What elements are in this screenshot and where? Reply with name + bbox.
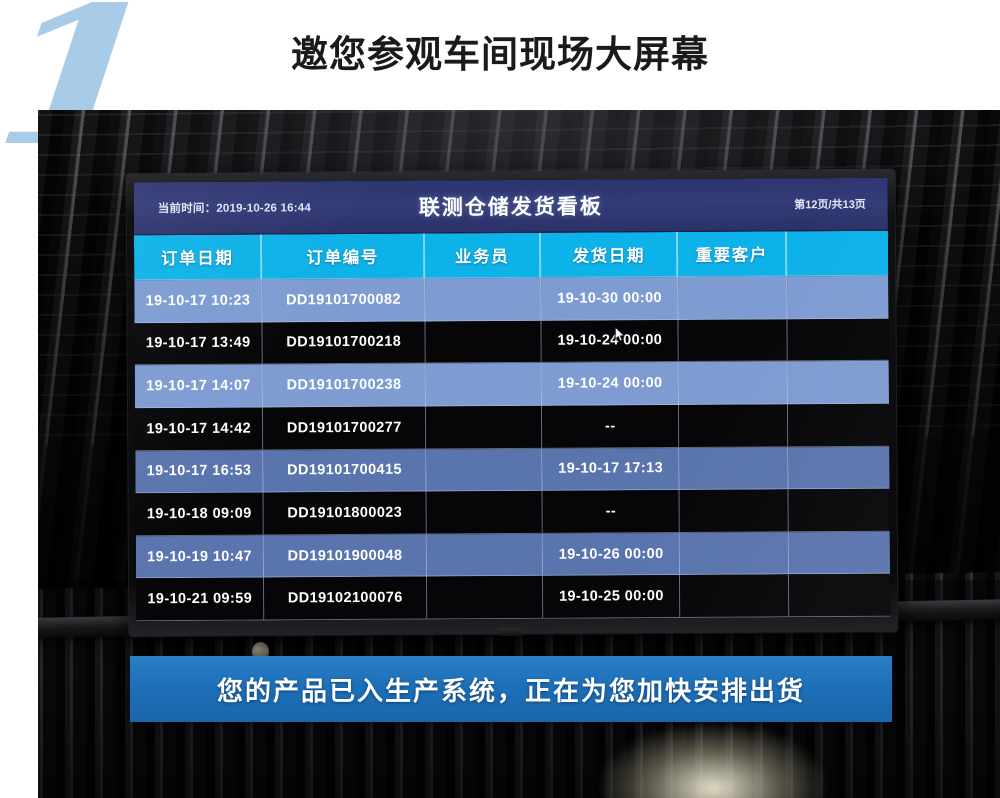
cell-extra [788,361,889,404]
pagination-indicator: 第12页/共13页 [794,196,866,212]
table-row: 19-10-17 14:07 DD19101700238 19-10-24 00… [135,361,889,408]
tv-screen: 当前时间：2019-10-26 16:44 联测仓储发货看板 第12页/共13页… [134,178,891,622]
promo-banner-text: 您的产品已入生产系统，正在为您加快安排出货 [217,671,805,708]
cell-order-number: DD19101700238 [263,364,426,408]
cell-order-number: DD19101700082 [262,279,425,323]
cell-order-number: DD19101700277 [263,406,426,450]
cell-extra [789,531,890,574]
cell-key-customer [680,575,789,618]
cell-ship-date: 19-10-24 00:00 [542,320,679,363]
cell-salesperson [427,534,543,577]
table-header-row: 订单日期 订单编号 业务员 发货日期 重要客户 [134,231,888,281]
cell-order-date: 19-10-21 09:59 [136,578,264,621]
cell-order-number: DD19101700218 [263,321,426,365]
cell-order-number: DD19101800023 [264,492,427,536]
dashboard-header: 当前时间：2019-10-26 16:44 联测仓储发货看板 第12页/共13页 [134,178,888,236]
shipment-table: 订单日期 订单编号 业务员 发货日期 重要客户 19-10-17 10:23 D… [134,231,890,622]
cell-salesperson [426,320,542,363]
column-header-order-date: 订单日期 [134,235,262,281]
table-row: 19-10-18 09:09 DD19101800023 -- [136,489,890,536]
cell-salesperson [426,448,542,491]
table-row: 19-10-17 16:53 DD19101700415 19-10-17 17… [135,446,889,493]
column-header-ship-date: 发货日期 [541,232,678,278]
cell-salesperson [427,491,543,534]
cell-order-date: 19-10-17 14:42 [135,407,263,450]
cell-ship-date: 19-10-24 00:00 [542,362,679,405]
cell-ship-date: 19-10-26 00:00 [543,533,680,576]
cell-ship-date: -- [543,490,680,533]
column-header-key-customer: 重要客户 [678,231,787,277]
promo-banner: 您的产品已入生产系统，正在为您加快安排出货 [130,656,892,722]
table-row: 19-10-17 10:23 DD19101700082 19-10-30 00… [134,276,888,323]
cell-ship-date: -- [542,405,679,448]
cell-extra [788,489,889,532]
cell-ship-date: 19-10-25 00:00 [543,575,680,618]
factory-photo: 当前时间：2019-10-26 16:44 联测仓储发货看板 第12页/共13页… [38,110,1000,798]
cell-order-date: 19-10-19 10:47 [136,535,264,578]
cell-ship-date: 19-10-30 00:00 [541,277,678,320]
table-row: 19-10-19 10:47 DD19101900048 19-10-26 00… [136,531,890,578]
table-row: 19-10-17 14:42 DD19101700277 -- [135,404,889,451]
cell-order-number: DD19101700415 [263,449,426,493]
wall-mounted-tv: 当前时间：2019-10-26 16:44 联测仓储发货看板 第12页/共13页… [127,170,898,637]
column-header-extra [787,231,888,277]
cell-extra [787,318,888,361]
current-time-label: 当前时间：2019-10-26 16:44 [158,199,311,216]
table-row: 19-10-17 13:49 DD19101700218 19-10-24 00… [135,318,889,365]
cell-order-date: 19-10-18 09:09 [136,493,264,536]
cell-extra [787,276,888,319]
cell-extra [788,446,889,489]
cell-salesperson [427,576,543,619]
cell-extra [789,574,890,617]
cell-key-customer [680,489,789,532]
cell-order-date: 19-10-17 16:53 [135,450,263,493]
cell-order-date: 19-10-17 10:23 [134,280,262,323]
cell-order-number: DD19101900048 [264,534,427,578]
cell-key-customer [680,532,789,575]
cell-key-customer [679,404,788,447]
cell-salesperson [425,278,541,321]
mouse-cursor-icon [615,327,626,342]
table-row: 19-10-21 09:59 DD19102100076 19-10-25 00… [136,574,890,621]
cell-salesperson [426,363,542,406]
cell-extra [788,404,889,447]
column-header-salesperson: 业务员 [425,233,541,279]
warehouse-dashboard: 当前时间：2019-10-26 16:44 联测仓储发货看板 第12页/共13页… [134,178,891,622]
cell-ship-date: 19-10-17 17:13 [542,447,679,490]
cell-order-number: DD19102100076 [264,577,427,621]
cell-order-date: 19-10-17 13:49 [135,322,263,365]
cell-order-date: 19-10-17 14:07 [135,365,263,408]
column-header-order-number: 订单编号 [262,234,425,280]
cell-salesperson [426,406,542,449]
cell-key-customer [679,276,788,319]
page-title: 邀您参观车间现场大屏幕 [0,24,1000,78]
tv-mount-foot [498,628,522,636]
cell-key-customer [679,362,788,405]
cell-key-customer [679,319,788,362]
cell-key-customer [680,447,789,490]
